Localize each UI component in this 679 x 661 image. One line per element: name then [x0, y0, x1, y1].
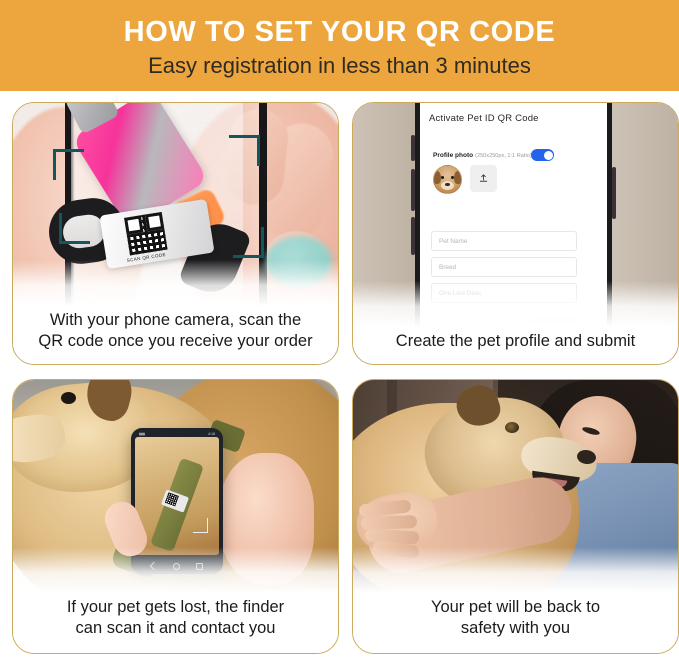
step-3-image: ▮▮▮ 4:18	[13, 380, 338, 593]
caption-line: Your pet will be back to	[363, 597, 668, 618]
step-1-caption: With your phone camera, scan the QR code…	[13, 306, 338, 364]
qr-code-icon	[124, 212, 167, 255]
phone-power-button	[612, 167, 616, 219]
phone-volume-down-button	[411, 217, 415, 255]
page-subtitle: Easy registration in less than 3 minutes	[148, 53, 531, 78]
avatar[interactable]	[433, 165, 462, 194]
app-screen-title: Activate Pet ID QR Code	[429, 113, 539, 124]
scan-bracket-bottom-right-icon	[193, 518, 208, 533]
scan-bracket-top-right-icon	[229, 135, 260, 166]
pet-name-input[interactable]: Pet Name	[431, 231, 577, 251]
avatar-ear-shape	[433, 171, 441, 184]
profile-photo-label-text: Profile photo	[433, 152, 473, 159]
avatar-eye-shape	[441, 176, 444, 179]
step-card-4: Your pet will be back to safety with you	[352, 379, 679, 654]
caption-line: safety with you	[363, 618, 668, 639]
step-4-caption: Your pet will be back to safety with you	[353, 593, 678, 653]
profile-photo-hint: (250x250px, 1:1 Ratio)	[475, 153, 532, 159]
step-card-3: ▮▮▮ 4:18	[12, 379, 339, 654]
dog-eye-shape	[505, 422, 519, 433]
status-signal-icon: ▮▮▮	[139, 432, 145, 436]
profile-photo-toggle[interactable]	[531, 149, 554, 161]
scan-bracket-bottom-right-icon	[233, 227, 264, 258]
image-fade-overlay	[13, 260, 338, 306]
dog-eye-shape	[61, 392, 76, 404]
upload-icon	[478, 173, 489, 184]
step-1-image: SCAN QR CODE	[13, 103, 338, 306]
caption-line: can scan it and contact you	[23, 618, 328, 639]
image-fade-overlay	[353, 281, 678, 327]
header-banner: HOW TO SET YOUR QR CODE Easy registratio…	[0, 0, 679, 91]
image-fade-overlay	[13, 547, 338, 593]
scan-bracket-top-left-icon	[53, 149, 84, 180]
phone-volume-up-button	[411, 169, 415, 211]
step-2-image: Activate Pet ID QR Code Profile photo(25…	[353, 103, 678, 327]
phone-status-bar: ▮▮▮ 4:18	[137, 431, 217, 437]
finger-shape	[361, 515, 417, 530]
infographic-root: HOW TO SET YOUR QR CODE Easy registratio…	[0, 0, 679, 661]
step-2-caption: Create the pet profile and submit	[353, 327, 678, 364]
step-card-1: SCAN QR CODE With your phone camera, sca…	[12, 102, 339, 365]
caption-line: QR code once you receive your order	[23, 331, 328, 352]
step-card-2: Activate Pet ID QR Code Profile photo(25…	[352, 102, 679, 365]
caption-line: If your pet gets lost, the finder	[23, 597, 328, 618]
avatar-ear-shape	[454, 171, 462, 184]
status-time: 4:18	[208, 432, 215, 436]
image-fade-overlay	[353, 547, 678, 593]
step-3-caption: If your pet gets lost, the finder can sc…	[13, 593, 338, 653]
page-title: HOW TO SET YOUR QR CODE	[124, 17, 556, 47]
breed-input[interactable]: Breed	[431, 257, 577, 277]
step-4-image	[353, 380, 678, 593]
caption-line: With your phone camera, scan the	[23, 310, 328, 331]
qr-code-icon	[165, 492, 179, 506]
caption-line: Create the pet profile and submit	[363, 331, 668, 352]
profile-photo-label: Profile photo(250x250px, 1:1 Ratio)	[433, 152, 532, 159]
steps-grid: SCAN QR CODE With your phone camera, sca…	[12, 102, 667, 654]
phone-screen	[135, 437, 219, 555]
upload-photo-button[interactable]	[470, 165, 497, 192]
avatar-nose-shape	[445, 183, 450, 186]
phone-button	[411, 135, 415, 161]
avatar-eye-shape	[451, 176, 454, 179]
scan-bracket-bottom-left-icon	[59, 213, 90, 244]
